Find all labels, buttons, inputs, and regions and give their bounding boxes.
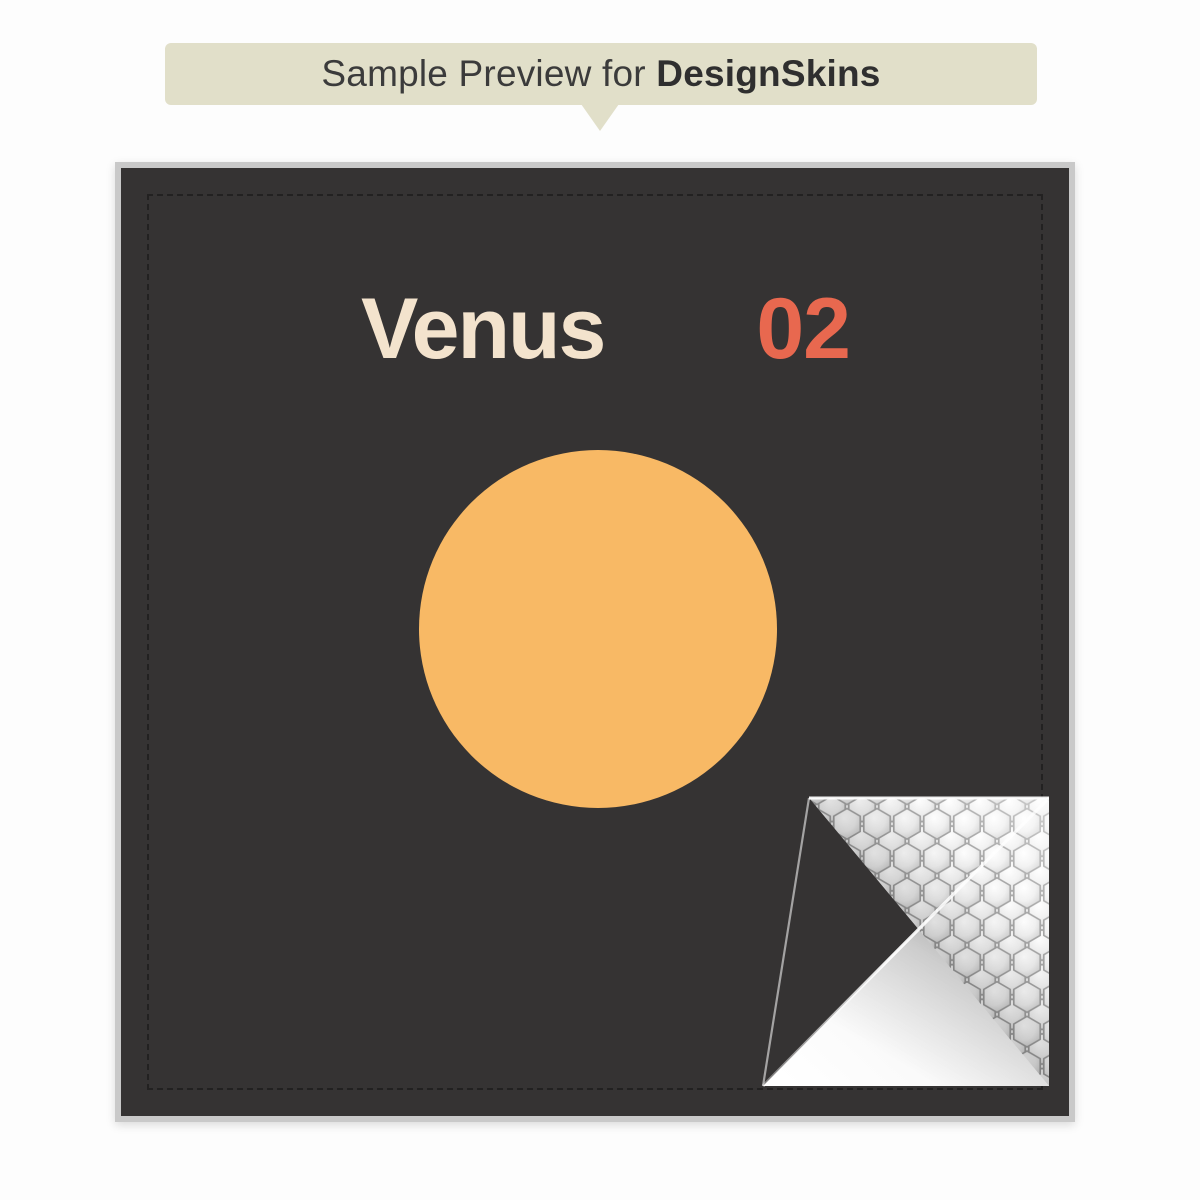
- artwork-canvas: Venus 02: [121, 168, 1069, 1116]
- peel-corner[interactable]: [757, 790, 1049, 1096]
- filled-circle-icon: [419, 450, 777, 808]
- banner-brand-text: DesignSkins: [656, 53, 880, 94]
- artwork-title: Venus: [361, 286, 604, 372]
- peel-corner-graphic: [757, 790, 1049, 1096]
- speech-tail-triangle-icon: [581, 104, 619, 131]
- artwork-number: 02: [756, 286, 850, 372]
- banner-prefix-text: Sample Preview for: [321, 53, 656, 94]
- peel-flap-left-edge: [763, 798, 809, 1086]
- artwork-title-row: Venus 02: [361, 286, 921, 372]
- banner-label: Sample Preview for DesignSkins: [321, 53, 880, 95]
- skin-sheet: Venus 02: [115, 162, 1075, 1122]
- preview-banner: Sample Preview for DesignSkins: [165, 43, 1037, 105]
